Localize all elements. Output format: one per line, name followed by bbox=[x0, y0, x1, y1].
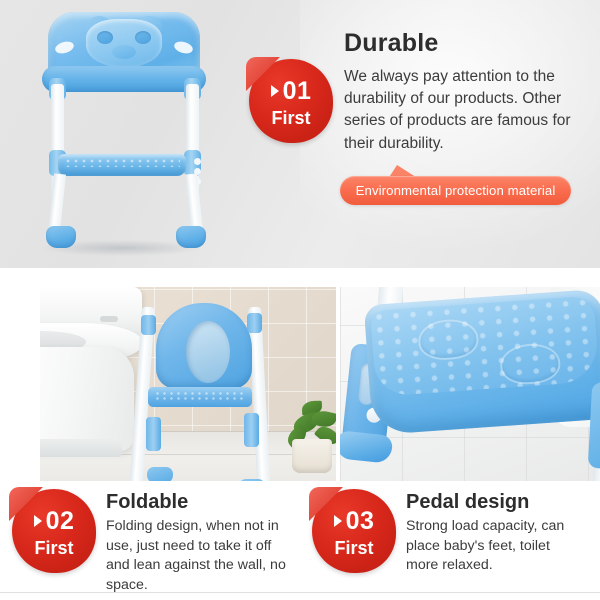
feature-text-block: Foldable Folding design, when not in use… bbox=[106, 489, 294, 595]
play-triangle-icon bbox=[271, 85, 279, 97]
product-step-antislip-texture bbox=[64, 158, 180, 167]
product-illustration bbox=[18, 8, 233, 263]
panda-eye-left-icon bbox=[97, 31, 113, 44]
badge-number-row: 02 bbox=[12, 509, 96, 534]
product-foot-right bbox=[176, 226, 206, 248]
feature-body: Strong load capacity, can place baby's f… bbox=[406, 517, 582, 576]
toilet-base bbox=[40, 439, 122, 457]
closeup-pedal-step bbox=[364, 289, 600, 435]
hero-panel: 01 First Durable We always pay attention… bbox=[0, 0, 600, 268]
folded-rail-band-left-top bbox=[141, 315, 156, 335]
feature-pedal-design: 03 First Pedal design Strong load capaci… bbox=[312, 489, 582, 576]
badge-number: 01 bbox=[283, 77, 312, 105]
product-step-pedal bbox=[58, 154, 186, 176]
bathroom-scene-photo bbox=[40, 287, 336, 494]
product-hinge-screws bbox=[194, 158, 201, 165]
folded-rail-band-right-top bbox=[247, 313, 262, 333]
number-badge: 01 First bbox=[249, 59, 333, 143]
folded-ladder-seat bbox=[156, 303, 252, 389]
photo-row bbox=[0, 271, 600, 478]
feature-title: Pedal design bbox=[406, 491, 582, 513]
plant-pot bbox=[292, 439, 332, 473]
toilet-flush-handle bbox=[100, 316, 118, 322]
badge-number-row: 01 bbox=[249, 79, 333, 104]
badge-number: 02 bbox=[46, 507, 75, 535]
badge-rank-label: First bbox=[249, 109, 333, 127]
eco-material-label: Environmental protection material bbox=[356, 183, 556, 198]
badge-rank-label: First bbox=[12, 539, 96, 557]
hero-badge-01: 01 First bbox=[249, 59, 333, 143]
hero-text-block: Durable We always pay attention to the d… bbox=[344, 30, 580, 155]
feature-text-block: Pedal design Strong load capacity, can p… bbox=[406, 489, 582, 576]
play-triangle-icon bbox=[34, 515, 42, 527]
hero-body: We always pay attention to the durabilit… bbox=[344, 66, 580, 156]
feature-title: Foldable bbox=[106, 491, 294, 513]
badge-rank-label: First bbox=[312, 539, 396, 557]
bottom-divider bbox=[0, 592, 600, 593]
toilet-bowl bbox=[40, 347, 134, 451]
folded-rail-band-left-bottom bbox=[146, 417, 161, 451]
panda-snout-icon bbox=[112, 45, 136, 59]
folded-step-antislip-texture bbox=[154, 391, 246, 400]
feature-row: 02 First Foldable Folding design, when n… bbox=[0, 481, 600, 600]
badge-number-row: 03 bbox=[312, 509, 396, 534]
product-foot-left bbox=[46, 226, 76, 248]
play-triangle-icon bbox=[334, 515, 342, 527]
feature-body: Folding design, when not in use, just ne… bbox=[106, 517, 294, 595]
folded-ladder-seat-opening bbox=[186, 321, 230, 383]
folded-ladder bbox=[136, 295, 276, 487]
product-infographic-page: 01 First Durable We always pay attention… bbox=[0, 0, 600, 600]
closeup-ladder-foot bbox=[340, 430, 393, 464]
feature-foldable: 02 First Foldable Folding design, when n… bbox=[12, 489, 294, 595]
product-seat-lip bbox=[42, 66, 206, 92]
closeup-pedal-emboss-icon bbox=[417, 318, 480, 362]
backrest-highlight-left bbox=[54, 40, 75, 56]
folded-ladder-step bbox=[148, 387, 252, 407]
number-badge: 03 First bbox=[312, 489, 396, 573]
backrest-highlight-right bbox=[173, 40, 194, 56]
panda-eye-right-icon bbox=[135, 31, 151, 44]
folded-rail-band-right-bottom bbox=[244, 413, 259, 447]
hero-title: Durable bbox=[344, 30, 580, 58]
pedal-closeup-photo bbox=[340, 287, 600, 494]
badge-number: 03 bbox=[346, 507, 375, 535]
closeup-pedal-antislip-texture bbox=[370, 295, 599, 396]
closeup-pedal-emboss-icon bbox=[499, 342, 562, 386]
eco-material-pill: Environmental protection material bbox=[340, 176, 571, 205]
number-badge: 02 First bbox=[12, 489, 96, 573]
panda-face-icon bbox=[86, 19, 162, 67]
